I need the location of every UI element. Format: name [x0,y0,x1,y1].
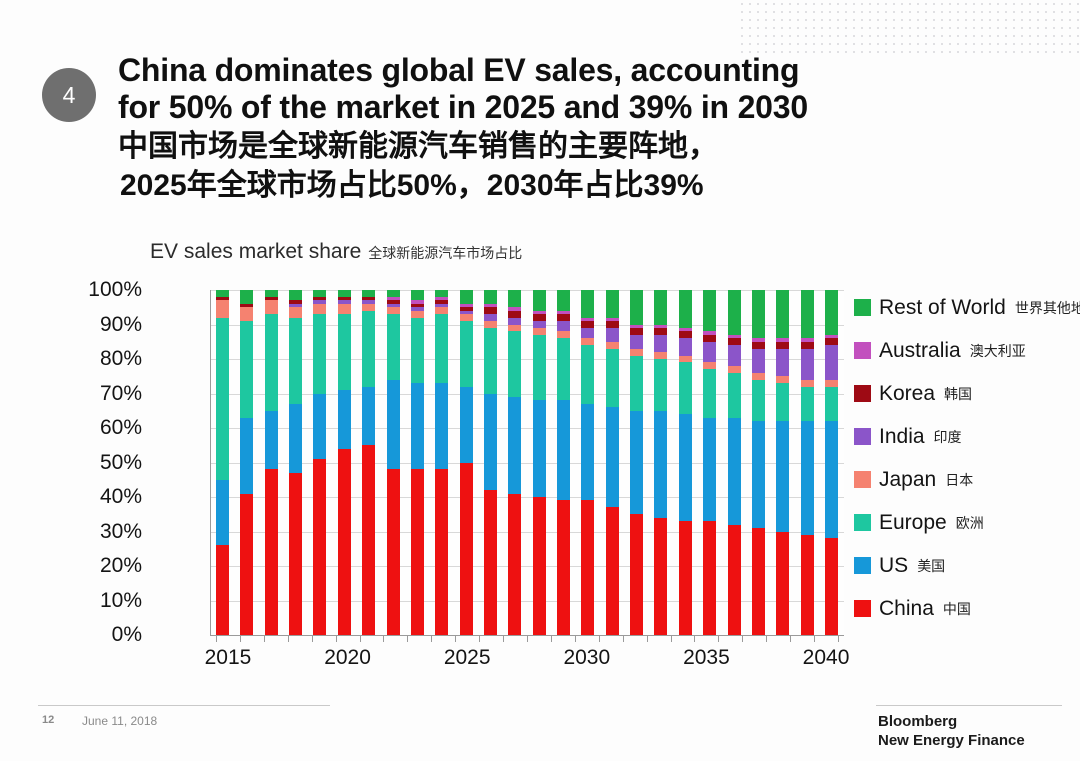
y-axis-tick-label: 30% [100,520,142,544]
bar-segment-india [484,314,497,321]
bar-segment-india [533,321,546,328]
x-axis-tickmark [240,635,241,642]
x-axis-tickmark [312,635,313,642]
bar-segment-rest-of-world [606,290,619,318]
bar-segment-rest-of-world [703,290,716,331]
bar-segment-korea [533,314,546,321]
bar-segment-japan [606,342,619,349]
legend-label-en: Rest of World [879,296,1006,320]
bar-segment-rest-of-world [508,290,521,307]
bar-segment-rest-of-world [825,290,838,335]
bar-segment-europe [216,318,229,480]
bar-segment-japan [240,307,253,321]
bar-segment-us [679,414,692,521]
bar-segment-europe [630,356,643,411]
bar-segment-rest-of-world [581,290,594,318]
bar-segment-rest-of-world [557,290,570,311]
bar-segment-us [630,411,643,515]
legend-swatch-icon [854,514,871,531]
bar-segment-india [752,349,765,373]
bar-segment-india [825,345,838,380]
bar-segment-korea [508,311,521,318]
bar-segment-china [460,463,473,636]
bar-segment-japan [387,307,400,314]
bar-segment-europe [484,328,497,394]
bar-segment-us [581,404,594,501]
footer-date: June 11, 2018 [82,714,157,728]
bar-segment-china [776,532,789,636]
bar-segment-rest-of-world [411,290,424,300]
bar-segment-japan [801,380,814,387]
bar-segment-rest-of-world [240,290,253,304]
bar-segment-us [313,394,326,460]
legend-label-cn: 日本 [945,470,973,490]
bar-segment-europe [435,314,448,383]
bar-segment-europe [289,318,302,404]
bar-segment-japan [289,307,302,317]
bar-segment-india [703,342,716,363]
legend-swatch-icon [854,557,871,574]
bar-segment-europe [338,314,351,390]
x-axis-tickmark [479,635,480,642]
legend-swatch-icon [854,299,871,316]
legend-swatch-icon [854,428,871,445]
bar-segment-japan [728,366,741,373]
bar-segment-rest-of-world [387,290,400,297]
title-line-cn-2: 2025年全球市场占比50%，2030年占比39% [118,169,1038,204]
bloomberg-nef-logo: Bloomberg New Energy Finance [878,712,1025,750]
bar-2021 [362,290,375,635]
legend-item-us[interactable]: US美国 [854,544,1080,587]
legend-label-en: Europe [879,511,947,535]
bar-segment-us [216,480,229,546]
slide-number-badge: 4 [42,68,96,122]
bar-segment-rest-of-world [289,290,302,300]
x-axis-tickmark [575,635,576,642]
bar-2017 [265,290,278,635]
bar-segment-korea [776,342,789,349]
bar-segment-europe [411,318,424,384]
bar-segment-china [362,445,375,635]
bar-2020 [338,290,351,635]
x-axis-tickmark [288,635,289,642]
title-line-en-1: China dominates global EV sales, account… [118,52,1038,89]
bar-segment-japan [338,304,351,314]
bar-segment-europe [265,314,278,411]
bar-segment-europe [460,321,473,387]
legend-swatch-icon [854,600,871,617]
bar-segment-india [679,338,692,355]
bar-segment-us [460,387,473,463]
legend-label-en: Australia [879,339,961,363]
bar-segment-europe [776,383,789,421]
bar-segment-us [557,400,570,500]
bar-segment-china [581,500,594,635]
x-axis-tickmark [383,635,384,642]
badge-number: 4 [63,82,76,109]
bar-segment-rest-of-world [776,290,789,338]
legend-item-china[interactable]: China中国 [854,587,1080,630]
bar-segment-us [533,400,546,497]
bar-segment-india [728,345,741,366]
legend-swatch-icon [854,385,871,402]
y-axis-tick-label: 20% [100,554,142,578]
x-axis-tickmark [742,635,743,642]
bar-segment-china [801,535,814,635]
x-axis-tickmark [503,635,504,642]
bar-segment-china [240,494,253,635]
x-axis-tickmark [814,635,815,642]
bar-segment-rest-of-world [654,290,667,325]
y-axis-line [210,290,211,635]
bar-segment-japan [825,380,838,387]
x-axis-tickmark [790,635,791,642]
bar-segment-japan [484,321,497,328]
legend-item-india[interactable]: India印度 [854,415,1080,458]
bar-segment-japan [581,338,594,345]
bar-segment-japan [557,331,570,338]
legend-label-cn: 澳大利亚 [970,341,1026,361]
legend-label-en: China [879,597,934,621]
bar-2040 [825,290,838,635]
legend-item-rest-of-world[interactable]: Rest of World世界其他地区 [854,286,1080,329]
bar-2025 [460,290,473,635]
bar-segment-japan [630,349,643,356]
bar-segment-europe [508,331,521,397]
bar-segment-china [654,518,667,635]
bar-segment-rest-of-world [338,290,351,297]
bar-series-group [210,290,844,635]
legend-item-korea[interactable]: Korea韩国 [854,372,1080,415]
legend-item-europe[interactable]: Europe欧洲 [854,501,1080,544]
chart-title-en: EV sales market share [150,240,361,263]
bar-segment-japan [654,352,667,359]
x-axis-tickmark [623,635,624,642]
chart-title: EV sales market share全球新能源汽车市场占比 [150,240,1060,264]
bar-segment-china [728,525,741,635]
y-axis-tick-label: 80% [100,347,142,371]
bar-segment-japan [679,356,692,363]
bar-segment-rest-of-world [265,290,278,297]
bar-segment-rest-of-world [630,290,643,325]
bar-segment-japan [435,307,448,314]
bar-segment-us [240,418,253,494]
title-line-en-2: for 50% of the market in 2025 and 39% in… [118,89,1038,126]
legend-label-cn: 中国 [943,599,971,619]
bar-segment-us [776,421,789,531]
legend-label-en: Japan [879,468,936,492]
bar-2023 [411,290,424,635]
bar-segment-korea [825,338,838,345]
bar-segment-europe [240,321,253,418]
legend-label-en: Korea [879,382,935,406]
y-axis-tick-label: 0% [112,623,142,647]
bar-segment-rest-of-world [435,290,448,297]
bar-2029 [557,290,570,635]
bar-segment-europe [654,359,667,411]
bar-segment-korea [606,321,619,328]
bar-segment-japan [703,362,716,369]
bar-segment-india [801,349,814,380]
y-axis-tick-label: 60% [100,416,142,440]
bar-segment-japan [411,311,424,318]
bar-segment-korea [630,328,643,335]
footer-divider-left [38,705,330,706]
bar-segment-us [801,421,814,535]
bar-2035 [703,290,716,635]
bar-segment-china [703,521,716,635]
bar-segment-japan [313,304,326,314]
bar-segment-europe [557,338,570,400]
y-axis-tick-label: 40% [100,485,142,509]
y-axis-tick-label: 10% [100,589,142,613]
x-axis-tickmark [527,635,528,642]
bar-segment-india [581,328,594,338]
bar-segment-europe [387,314,400,380]
y-axis: 0%10%20%30%40%50%60%70%80%90%100% [88,290,146,635]
chart-title-cn: 全球新能源汽车市场占比 [368,245,522,261]
bar-segment-korea [654,328,667,335]
bar-segment-us [703,418,716,522]
y-axis-tick-label: 70% [100,382,142,406]
bar-2036 [728,290,741,635]
bar-segment-us [289,404,302,473]
y-axis-tick-label: 50% [100,451,142,475]
bar-segment-china [435,469,448,635]
bar-segment-japan [776,376,789,383]
bar-segment-rest-of-world [752,290,765,338]
bar-segment-us [362,387,375,446]
page-number: 12 [42,714,54,726]
x-axis-label: 2015 [205,646,252,670]
bar-2028 [533,290,546,635]
bar-segment-europe [728,373,741,418]
bar-segment-europe [313,314,326,393]
bar-segment-india [606,328,619,342]
x-axis-tickmark [216,635,217,642]
bar-segment-korea [484,307,497,314]
bar-segment-rest-of-world [460,290,473,304]
bar-segment-europe [752,380,765,421]
bar-2039 [801,290,814,635]
bar-segment-europe [801,387,814,422]
x-axis-tickmark [599,635,600,642]
bar-segment-china [216,545,229,635]
bar-segment-japan [508,325,521,332]
x-axis-label: 2025 [444,646,491,670]
bar-segment-us [411,383,424,469]
bar-segment-us [825,421,838,538]
bar-segment-rest-of-world [362,290,375,297]
legend-label-cn: 韩国 [944,384,972,404]
bar-segment-china [825,538,838,635]
bar-segment-japan [362,304,375,311]
page-title: China dominates global EV sales, account… [118,52,1038,204]
legend-item-japan[interactable]: Japan日本 [854,458,1080,501]
bar-segment-china [533,497,546,635]
chart-container: EV sales market share全球新能源汽车市场占比 0%10%20… [150,240,1060,700]
bar-segment-europe [362,311,375,387]
bar-segment-europe [679,362,692,414]
x-axis-label: 2035 [683,646,730,670]
bar-segment-rest-of-world [533,290,546,311]
bar-2022 [387,290,400,635]
bar-segment-rest-of-world [679,290,692,328]
legend-label-en: US [879,554,908,578]
bar-segment-europe [581,345,594,404]
bar-segment-china [752,528,765,635]
bar-segment-korea [801,342,814,349]
title-line-cn-1: 中国市场是全球新能源汽车销售的主要阵地， [118,130,1038,165]
bar-segment-us [338,390,351,449]
x-axis-tickmark [671,635,672,642]
bar-segment-japan [752,373,765,380]
bar-2033 [654,290,667,635]
bar-segment-korea [581,321,594,328]
bar-segment-korea [679,331,692,338]
x-axis-label: 2020 [324,646,371,670]
bar-segment-us [387,380,400,470]
x-axis-tickmark [264,635,265,642]
bar-segment-europe [533,335,546,401]
x-axis-tickmarks [210,635,844,643]
bar-segment-china [313,459,326,635]
bar-segment-china [679,521,692,635]
bar-segment-china [508,494,521,635]
brand-line-2: New Energy Finance [878,732,1025,749]
bar-2016 [240,290,253,635]
bar-segment-india [630,335,643,349]
bar-segment-china [289,473,302,635]
bar-segment-china [606,507,619,635]
bar-segment-us [606,407,619,507]
bar-2026 [484,290,497,635]
legend-swatch-icon [854,342,871,359]
bar-2037 [752,290,765,635]
bar-segment-us [654,411,667,518]
bar-segment-rest-of-world [216,290,229,297]
bar-segment-europe [703,369,716,417]
x-axis-tickmark [766,635,767,642]
bar-2031 [606,290,619,635]
bar-segment-china [630,514,643,635]
bar-2027 [508,290,521,635]
legend-label-cn: 印度 [934,427,962,447]
bar-segment-us [484,394,497,491]
bar-segment-china [557,500,570,635]
bar-segment-japan [460,314,473,321]
x-axis-tickmark [455,635,456,642]
bar-segment-us [265,411,278,470]
legend-label-en: India [879,425,925,449]
x-axis-labels: 201520202025203020352040 [210,646,844,676]
legend-swatch-icon [854,471,871,488]
x-axis-tickmark [407,635,408,642]
footer-divider-right [876,705,1062,706]
slide: 4 China dominates global EV sales, accou… [0,0,1080,761]
bar-segment-rest-of-world [313,290,326,297]
bar-segment-china [387,469,400,635]
bar-segment-korea [728,338,741,345]
plot-area: 201520202025203020352040 [210,290,844,635]
x-axis-tickmark [647,635,648,642]
bar-2034 [679,290,692,635]
bar-segment-korea [752,342,765,349]
bar-segment-japan [533,328,546,335]
bar-segment-china [484,490,497,635]
bar-2015 [216,290,229,635]
bar-segment-us [728,418,741,525]
bar-segment-china [338,449,351,635]
bar-segment-japan [265,300,278,314]
legend-label-cn: 欧洲 [956,513,984,533]
x-axis-tickmark [838,635,839,642]
chart-legend: Rest of World世界其他地区Australia澳大利亚Korea韩国I… [854,286,1080,630]
bar-segment-india [557,321,570,331]
brand-line-1: Bloomberg [878,713,957,730]
y-axis-tick-label: 90% [100,313,142,337]
bar-segment-india [654,335,667,352]
bar-segment-china [265,469,278,635]
x-axis-tickmark [718,635,719,642]
bar-2019 [313,290,326,635]
x-axis-tickmark [551,635,552,642]
x-axis-tickmark [694,635,695,642]
legend-label-cn: 世界其他地区 [1015,298,1080,318]
bar-segment-rest-of-world [484,290,497,304]
bar-2038 [776,290,789,635]
bar-segment-india [508,318,521,325]
x-axis-label: 2030 [563,646,610,670]
bar-segment-japan [216,300,229,317]
legend-label-cn: 美国 [917,556,945,576]
bar-segment-rest-of-world [728,290,741,335]
bar-2032 [630,290,643,635]
bar-segment-india [776,349,789,377]
bar-segment-europe [606,349,619,408]
bar-segment-china [411,469,424,635]
x-axis-tickmark [431,635,432,642]
bar-segment-us [508,397,521,494]
bar-2018 [289,290,302,635]
dot-grid-decoration [738,0,1080,56]
bar-segment-europe [825,387,838,422]
bar-segment-us [752,421,765,528]
bar-segment-korea [557,314,570,321]
x-axis-label: 2040 [803,646,850,670]
x-axis-tickmark [336,635,337,642]
bar-2030 [581,290,594,635]
legend-item-australia[interactable]: Australia澳大利亚 [854,329,1080,372]
bar-segment-rest-of-world [801,290,814,338]
x-axis-tickmark [360,635,361,642]
bar-segment-us [435,383,448,469]
bar-2024 [435,290,448,635]
bar-segment-korea [703,335,716,342]
y-axis-tick-label: 100% [88,278,142,302]
